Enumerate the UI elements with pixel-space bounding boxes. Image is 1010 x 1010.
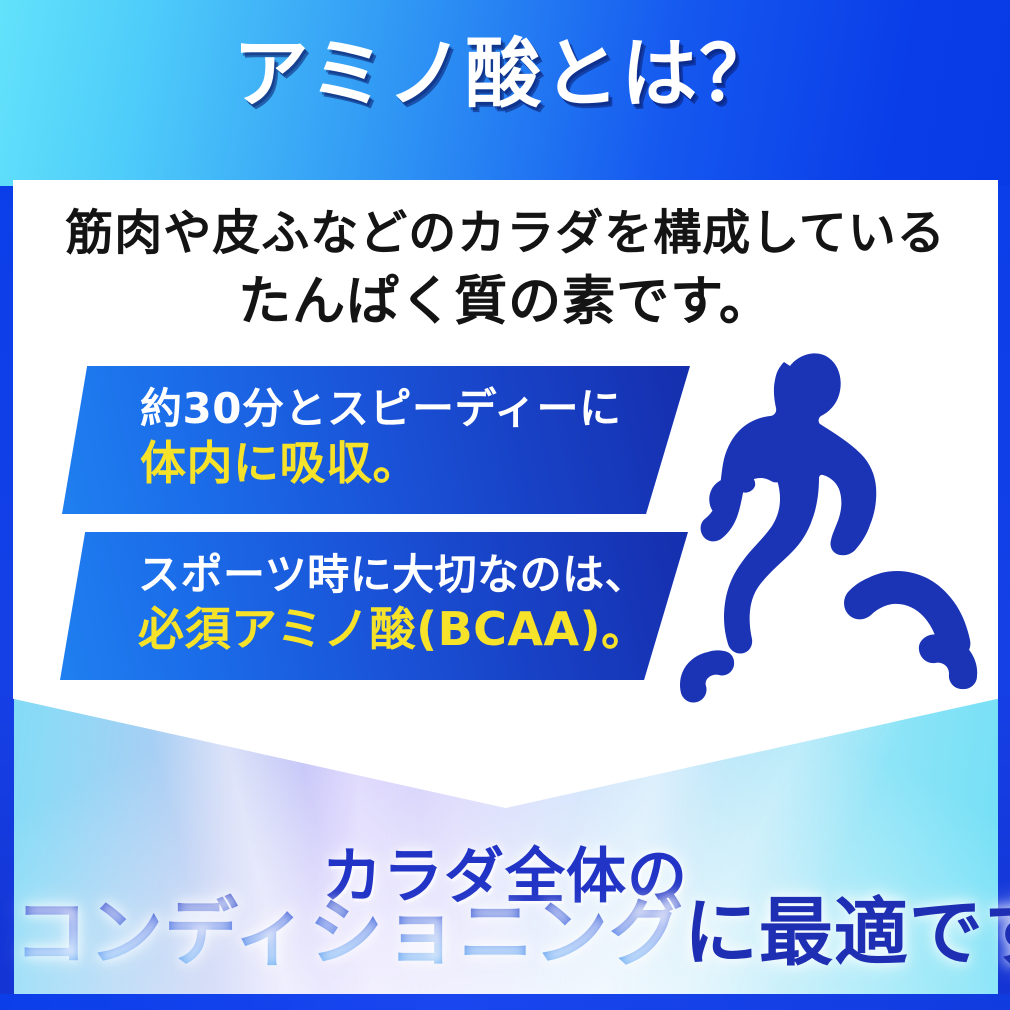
feature-banner-bcaa: スポーツ時に大切なのは、 必須アミノ酸(BCAA)。 xyxy=(60,532,688,680)
banner-2-white-line: スポーツ時に大切なのは、 xyxy=(138,550,688,600)
banner-text: 約30分とスピーディーに 体内に吸収。 xyxy=(62,366,690,490)
amino-acid-infographic: アミノ酸とは？ 筋肉や皮ふなどのカラダを構成している たんぱく質の素です。 約3… xyxy=(0,0,1010,1010)
tagline-solid-word: に最適です。 xyxy=(684,890,1010,976)
tagline-gradient-word: コンディショニング xyxy=(14,890,684,976)
lead-paragraph: 筋肉や皮ふなどのカラダを構成している たんぱく質の素です。 xyxy=(13,202,998,337)
tagline-line-2: コンディショニングに最適です。 xyxy=(14,896,996,970)
running-man-silhouette-icon xyxy=(672,342,992,710)
banner-text: スポーツ時に大切なのは、 必須アミノ酸(BCAA)。 xyxy=(60,532,688,656)
banner-1-white-line: 約30分とスピーディーに xyxy=(140,384,690,434)
frame-border-left xyxy=(0,186,14,1010)
banner-1-highlight-line: 体内に吸収。 xyxy=(140,436,690,490)
feature-banner-absorption: 約30分とスピーディーに 体内に吸収。 xyxy=(62,366,690,514)
frame-border-right xyxy=(998,186,1010,1010)
page-title: アミノ酸とは？ xyxy=(0,34,1010,114)
banner-2-highlight-line: 必須アミノ酸(BCAA)。 xyxy=(138,602,688,656)
lead-line-2: たんぱく質の素です。 xyxy=(13,268,998,337)
lead-line-1: 筋肉や皮ふなどのカラダを構成している xyxy=(13,202,998,264)
frame-border-bottom xyxy=(0,994,1010,1010)
